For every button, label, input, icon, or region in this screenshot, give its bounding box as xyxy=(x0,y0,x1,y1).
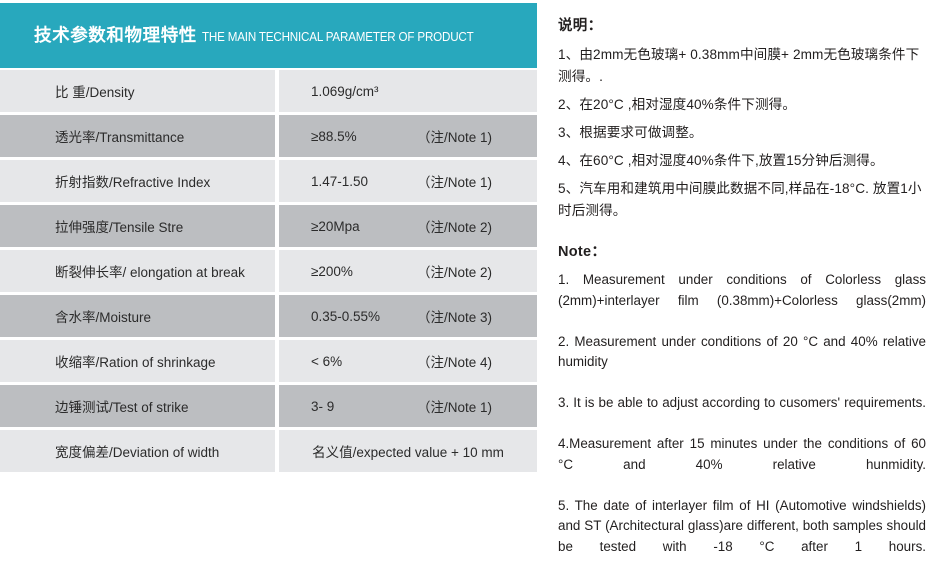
spec-table-header-text: 技术参数和物理特性THE MAIN TECHNICAL PARAMETER OF… xyxy=(0,27,494,45)
spec-row-value-cell: ≥20Mpa（注/Note 2) xyxy=(279,205,537,247)
note-item-en: 5. The date of interlayer film of HI (Au… xyxy=(558,496,926,578)
spec-row-note-reference: （注/Note 2) xyxy=(417,216,492,236)
spec-row-value: 0.35-0.55% xyxy=(311,309,380,324)
spec-table-row: 收缩率/Ration of shrinkage< 6%（注/Note 4) xyxy=(0,340,537,382)
spec-row-value-cell: 3- 9（注/Note 1) xyxy=(279,385,537,427)
spec-table-row: 比 重/Density1.069g/cm³ xyxy=(0,70,537,112)
note-item-cn: 5、汽车用和建筑用中间膜此数据不同,样品在-18°C. 放置1小时后测得。 xyxy=(558,178,926,222)
spec-table-body: 比 重/Density1.069g/cm³透光率/Transmittance≥8… xyxy=(0,70,537,475)
spec-row-value: < 6% xyxy=(311,354,342,369)
specification-panel: 技术参数和物理特性THE MAIN TECHNICAL PARAMETER OF… xyxy=(0,0,538,515)
spec-row-value: 1.069g/cm³ xyxy=(311,84,379,99)
spec-row-value-cell: ≥88.5%（注/Note 1) xyxy=(279,115,537,157)
spec-table-title-cn: 技术参数和物理特性 xyxy=(34,25,197,45)
spec-row-label: 收缩率/Ration of shrinkage xyxy=(0,340,275,382)
spec-row-note-reference: （注/Note 4) xyxy=(417,351,492,371)
spec-row-value-cell: < 6%（注/Note 4) xyxy=(279,340,537,382)
spec-row-value-cell: 1.069g/cm³ xyxy=(279,70,537,112)
spec-row-note-reference: （注/Note 1) xyxy=(417,396,492,416)
spec-row-value: ≥20Mpa xyxy=(311,219,360,234)
spec-row-value-cell: ≥200%（注/Note 2) xyxy=(279,250,537,292)
note-item-en: 3. It is be able to adjust according to … xyxy=(558,393,926,434)
spec-table-row: 透光率/Transmittance≥88.5%（注/Note 1) xyxy=(0,115,537,157)
spec-row-value-cell: 名义值/expected value + 10 mm xyxy=(279,430,537,472)
spec-row-label: 拉伸强度/Tensile Stre xyxy=(0,205,275,247)
notes-panel: 说明： 1、由2mm无色玻璃+ 0.38mm中间膜+ 2mm无色玻璃条件下测得。… xyxy=(558,0,926,515)
spec-row-value-cell: 0.35-0.55%（注/Note 3) xyxy=(279,295,537,337)
notes-heading-en: Note： xyxy=(558,240,926,261)
spec-table-row: 折射指数/Refractive Index1.47-1.50（注/Note 1) xyxy=(0,160,537,202)
note-item-cn: 3、根据要求可做调整。 xyxy=(558,122,926,144)
spec-table-row: 拉伸强度/Tensile Stre≥20Mpa（注/Note 2) xyxy=(0,205,537,247)
spec-table-row: 宽度偏差/Deviation of width名义值/expected valu… xyxy=(0,430,537,472)
spec-row-note-reference: （注/Note 1) xyxy=(417,126,492,146)
spec-row-note-reference: （注/Note 2) xyxy=(417,261,492,281)
spec-row-label: 透光率/Transmittance xyxy=(0,115,275,157)
spec-table-header: 技术参数和物理特性THE MAIN TECHNICAL PARAMETER OF… xyxy=(0,3,537,68)
note-item-en: 4.Measurement after 15 minutes under the… xyxy=(558,434,926,496)
notes-list-en: 1. Measurement under conditions of Color… xyxy=(558,270,926,578)
spec-row-value: 名义值/expected value + 10 mm xyxy=(312,441,504,461)
spec-row-value: 1.47-1.50 xyxy=(311,174,368,189)
note-item-en: 1. Measurement under conditions of Color… xyxy=(558,270,926,332)
spec-table-title-en: THE MAIN TECHNICAL PARAMETER OF PRODUCT xyxy=(202,31,474,44)
note-item-cn: 4、在60°C ,相对湿度40%条件下,放置15分钟后测得。 xyxy=(558,150,926,172)
spec-row-label: 折射指数/Refractive Index xyxy=(0,160,275,202)
spec-table-row: 边锤测试/Test of strike3- 9（注/Note 1) xyxy=(0,385,537,427)
note-item-en: 2. Measurement under conditions of 20 °C… xyxy=(558,332,926,394)
spec-row-label: 含水率/Moisture xyxy=(0,295,275,337)
note-item-cn: 2、在20°C ,相对湿度40%条件下测得。 xyxy=(558,94,926,116)
spec-row-value-cell: 1.47-1.50（注/Note 1) xyxy=(279,160,537,202)
spec-row-note-reference: （注/Note 3) xyxy=(417,306,492,326)
note-item-cn: 1、由2mm无色玻璃+ 0.38mm中间膜+ 2mm无色玻璃条件下测得。. xyxy=(558,44,926,88)
spec-row-value: ≥88.5% xyxy=(311,129,357,144)
spec-row-label: 断裂伸长率/ elongation at break xyxy=(0,250,275,292)
spec-row-label: 比 重/Density xyxy=(0,70,275,112)
spec-row-note-reference: （注/Note 1) xyxy=(417,171,492,191)
spec-table-row: 含水率/Moisture0.35-0.55%（注/Note 3) xyxy=(0,295,537,337)
spec-row-label: 宽度偏差/Deviation of width xyxy=(0,430,275,472)
notes-list-cn: 1、由2mm无色玻璃+ 0.38mm中间膜+ 2mm无色玻璃条件下测得。.2、在… xyxy=(558,44,926,222)
spec-table-row: 断裂伸长率/ elongation at break≥200%（注/Note 2… xyxy=(0,250,537,292)
spec-row-value: ≥200% xyxy=(311,264,353,279)
spec-row-value: 3- 9 xyxy=(311,399,334,414)
spec-row-label: 边锤测试/Test of strike xyxy=(0,385,275,427)
notes-heading-cn: 说明： xyxy=(558,14,926,35)
